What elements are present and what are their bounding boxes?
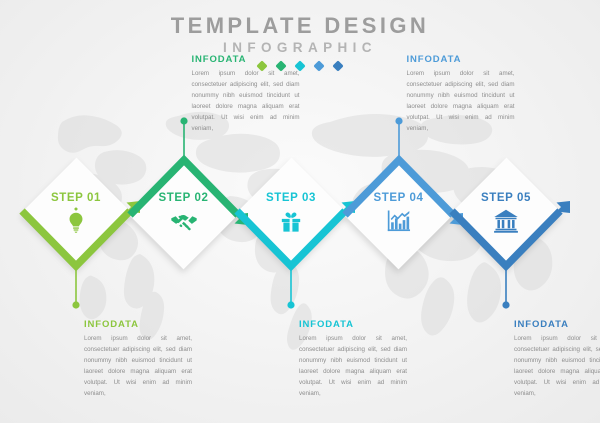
step-4-connector bbox=[393, 117, 405, 163]
step-4[interactable]: STEP 04 bbox=[343, 157, 455, 269]
step-5[interactable]: STEP 05 bbox=[450, 157, 562, 269]
step-2-infodata-text: Lorem ipsum dolor sit amet, consectetuer… bbox=[192, 68, 300, 134]
header-dot-5 bbox=[332, 60, 343, 71]
step-3-connector bbox=[285, 263, 297, 309]
step-1-infodata-text: Lorem ipsum dolor sit amet, consectetuer… bbox=[84, 333, 192, 399]
step-3-infodata-block: INFODATA Lorem ipsum dolor sit amet, con… bbox=[299, 319, 407, 399]
step-5-connector bbox=[500, 263, 512, 309]
step-1-infodata-heading: INFODATA bbox=[84, 319, 192, 330]
step-5-infodata-heading: INFODATA bbox=[514, 319, 600, 330]
step-4-infodata-text: Lorem ipsum dolor sit amet, consectetuer… bbox=[407, 68, 515, 134]
step-3[interactable]: STEP 03 bbox=[235, 157, 347, 269]
step-2-chevron bbox=[128, 157, 240, 269]
infographic-canvas: TEMPLATE DESIGN INFOGRAPHIC STEP 01 bbox=[0, 0, 600, 423]
step-4-infodata-heading: INFODATA bbox=[407, 54, 515, 65]
step-1-chevron bbox=[20, 157, 132, 269]
step-5-infodata-text: Lorem ipsum dolor sit amet, consectetuer… bbox=[514, 333, 600, 399]
step-3-infodata-heading: INFODATA bbox=[299, 319, 407, 330]
header-dot-4 bbox=[313, 60, 324, 71]
step-3-infodata-text: Lorem ipsum dolor sit amet, consectetuer… bbox=[299, 333, 407, 399]
step-4-chevron bbox=[343, 157, 455, 269]
step-1[interactable]: STEP 01 bbox=[20, 157, 132, 269]
step-4-infodata-block: INFODATA Lorem ipsum dolor sit amet, con… bbox=[407, 54, 515, 134]
step-2-connector bbox=[178, 117, 190, 163]
page-title: TEMPLATE DESIGN bbox=[0, 14, 600, 37]
step-2-infodata-block: INFODATA Lorem ipsum dolor sit amet, con… bbox=[192, 54, 300, 134]
step-1-connector bbox=[70, 263, 82, 309]
step-1-infodata-block: INFODATA Lorem ipsum dolor sit amet, con… bbox=[84, 319, 192, 399]
step-5-infodata-block: INFODATA Lorem ipsum dolor sit amet, con… bbox=[514, 319, 600, 399]
page-subtitle: INFOGRAPHIC bbox=[0, 40, 600, 55]
step-5-chevron bbox=[450, 157, 562, 269]
step-3-chevron bbox=[235, 157, 347, 269]
step-2-infodata-heading: INFODATA bbox=[192, 54, 300, 65]
step-2[interactable]: STEP 02 bbox=[128, 157, 240, 269]
